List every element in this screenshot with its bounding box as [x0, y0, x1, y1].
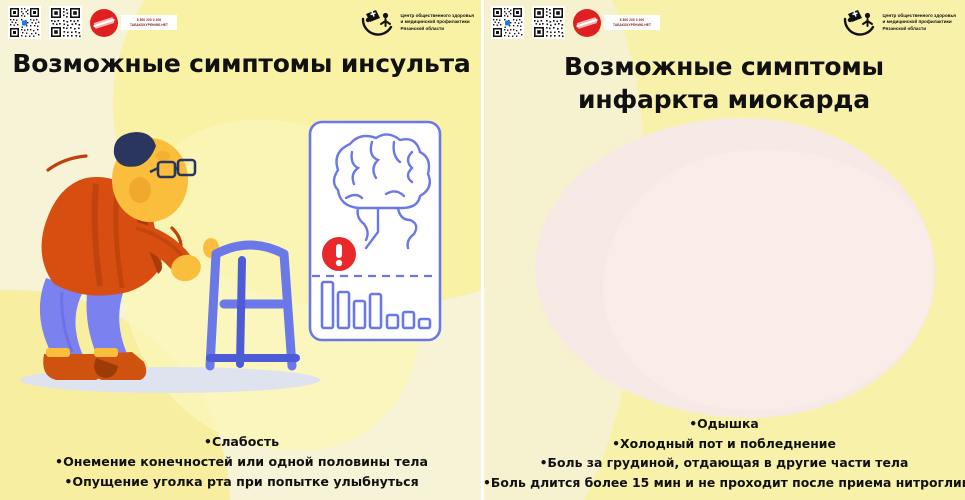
alert-exclamation-icon: [322, 237, 356, 271]
no-smoking-icon: [90, 9, 118, 37]
qr-code-icon[interactable]: [49, 6, 82, 39]
panel-header-right: 8 800 200 0 200 ТАБАКОКУРЕНИЮ.НЕТ Центр: [483, 0, 965, 48]
qr-badge-row: 8 800 200 0 200 ТАБАКОКУРЕНИЮ.НЕТ: [8, 6, 177, 39]
page-title-stroke: Возможные симптомы инсульта: [0, 49, 483, 78]
logo-line-2: и медицинской профилактики: [883, 19, 956, 26]
walker-icon: [210, 245, 292, 366]
qr-code-icon[interactable]: [532, 6, 565, 39]
symptom-item: •Одышка: [483, 414, 965, 434]
qr-code-icon[interactable]: [491, 6, 524, 39]
qr-badge-row: 8 800 200 0 200 ТАБАКОКУРЕНИЮ.НЕТ: [491, 6, 660, 39]
symptom-list-stroke: •Слабость •Онемение конечностей или одно…: [0, 432, 483, 492]
health-center-logo-icon: [842, 6, 878, 39]
panel-divider: [481, 0, 484, 500]
symptom-item: •Слабость: [0, 432, 483, 452]
no-smoking-icon: [573, 9, 601, 37]
logo-line-3: Рязанской области: [883, 26, 956, 33]
logo-line-3: Рязанской области: [401, 26, 474, 33]
symptom-item: •Онемение конечностей или одной половины…: [0, 452, 483, 472]
symptom-item: •Опущение уголка рта при попытке улыбнут…: [0, 472, 483, 492]
symptom-item: •Боль за грудиной, отдающая в другие час…: [483, 453, 965, 473]
hotline-label: 8 800 200 0 200 ТАБАКОКУРЕНИЮ.НЕТ: [604, 15, 660, 30]
panel-stroke: 8 800 200 0 200 ТАБАКОКУРЕНИЮ.НЕТ Центр: [0, 0, 483, 500]
logo-line-2: и медицинской профилактики: [401, 19, 474, 26]
page-title-infarction: Возможные симптомы инфаркта миокарда: [483, 50, 965, 116]
panel-header-left: 8 800 200 0 200 ТАБАКОКУРЕНИЮ.НЕТ Центр: [0, 0, 483, 48]
symptom-item: •Боль длится более 15 мин и не проходит …: [483, 473, 965, 493]
health-center-logo: Центр общественного здоровья и медицинск…: [360, 6, 474, 39]
illustration-stroke: [0, 108, 483, 408]
no-smoking-badge[interactable]: 8 800 200 0 200 ТАБАКОКУРЕНИЮ.НЕТ: [573, 9, 660, 37]
no-smoking-badge[interactable]: 8 800 200 0 200 ТАБАКОКУРЕНИЮ.НЕТ: [90, 9, 177, 37]
health-center-logo: Центр общественного здоровья и медицинск…: [842, 6, 956, 39]
logo-text-block: Центр общественного здоровья и медицинск…: [883, 13, 956, 33]
health-center-logo-icon: [360, 6, 396, 39]
logo-text-block: Центр общественного здоровья и медицинск…: [401, 13, 474, 33]
symptom-item: •Холодный пот и побледнение: [483, 434, 965, 454]
poster-board: 8 800 200 0 200 ТАБАКОКУРЕНИЮ.НЕТ Центр: [0, 0, 965, 500]
brain-scan-card: [310, 122, 440, 340]
panel-infarction: 8 800 200 0 200 ТАБАКОКУРЕНИЮ.НЕТ Центр: [483, 0, 965, 500]
qr-code-icon[interactable]: [8, 6, 41, 39]
symptom-list-infarction: •Одышка •Холодный пот и побледнение •Бол…: [483, 414, 965, 492]
hotline-label: 8 800 200 0 200 ТАБАКОКУРЕНИЮ.НЕТ: [121, 15, 177, 30]
